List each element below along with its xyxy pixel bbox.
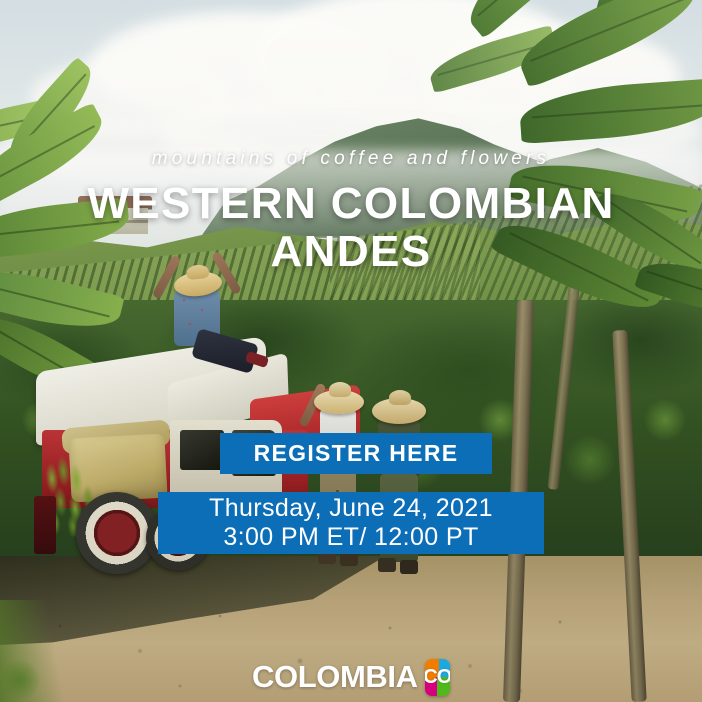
event-time: 3:00 PM ET/ 12:00 PT [223, 523, 478, 553]
colombia-co-logo: COLOMBIA CO [252, 655, 450, 699]
person-standing-left [306, 382, 368, 590]
logo-wordmark: COLOMBIA [252, 659, 418, 695]
co-mark-icon: CO [425, 659, 450, 696]
background-photo [0, 0, 702, 702]
grass-patch [0, 600, 90, 702]
boot [400, 560, 418, 574]
promo-poster: mountains of coffee and flowers WESTERN … [0, 0, 702, 702]
headline-line-1: WESTERN COLOMBIAN [0, 180, 702, 228]
straw-hat [314, 390, 364, 414]
logo-mark-text: CO [425, 659, 450, 696]
event-date-banner: Thursday, June 24, 2021 3:00 PM ET/ 12:0… [158, 492, 544, 554]
event-date: Thursday, June 24, 2021 [209, 494, 493, 524]
register-here-button[interactable]: REGISTER HERE [220, 433, 492, 474]
straw-hat [372, 398, 426, 424]
headline-line-2: ANDES [0, 228, 702, 276]
page-title: WESTERN COLOMBIAN ANDES [0, 180, 702, 275]
jeep-bumper [34, 496, 56, 554]
tagline: mountains of coffee and flowers [0, 148, 702, 170]
boot [378, 558, 396, 572]
boot [340, 552, 358, 566]
jeep-window [180, 430, 224, 470]
